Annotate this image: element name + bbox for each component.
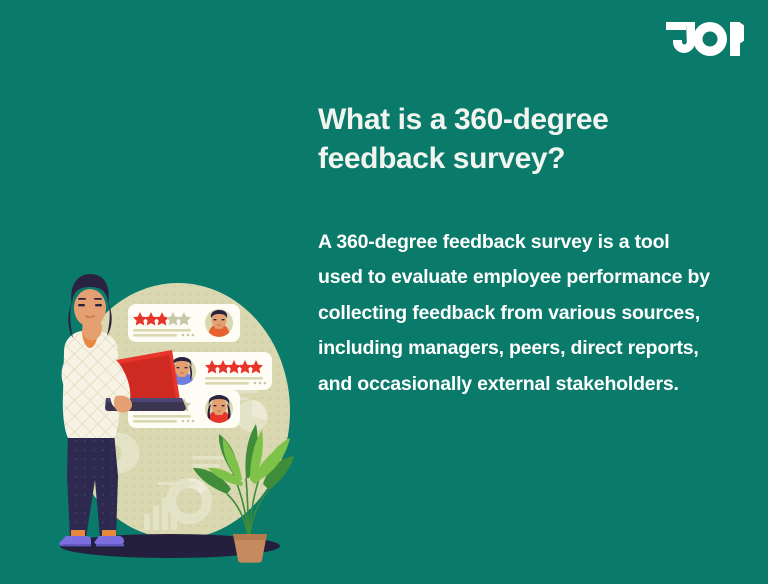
headline-line-2: feedback survey? xyxy=(318,142,565,175)
body-paragraph: A 360-degree feedback survey is a tool u… xyxy=(318,178,718,402)
slide-canvas: What is a 360-degree feedback survey? A … xyxy=(0,0,768,584)
text-column: What is a 360-degree feedback survey? A … xyxy=(318,100,718,402)
page-title: What is a 360-degree feedback survey? xyxy=(318,100,718,178)
review-card-1[interactable] xyxy=(128,304,240,342)
shoe-right xyxy=(94,536,124,544)
pie-chart-right xyxy=(236,400,268,432)
feedback-survey-illustration xyxy=(20,268,320,568)
jop-logo[interactable] xyxy=(666,22,744,56)
headline-line-1: What is a 360-degree xyxy=(318,103,608,136)
